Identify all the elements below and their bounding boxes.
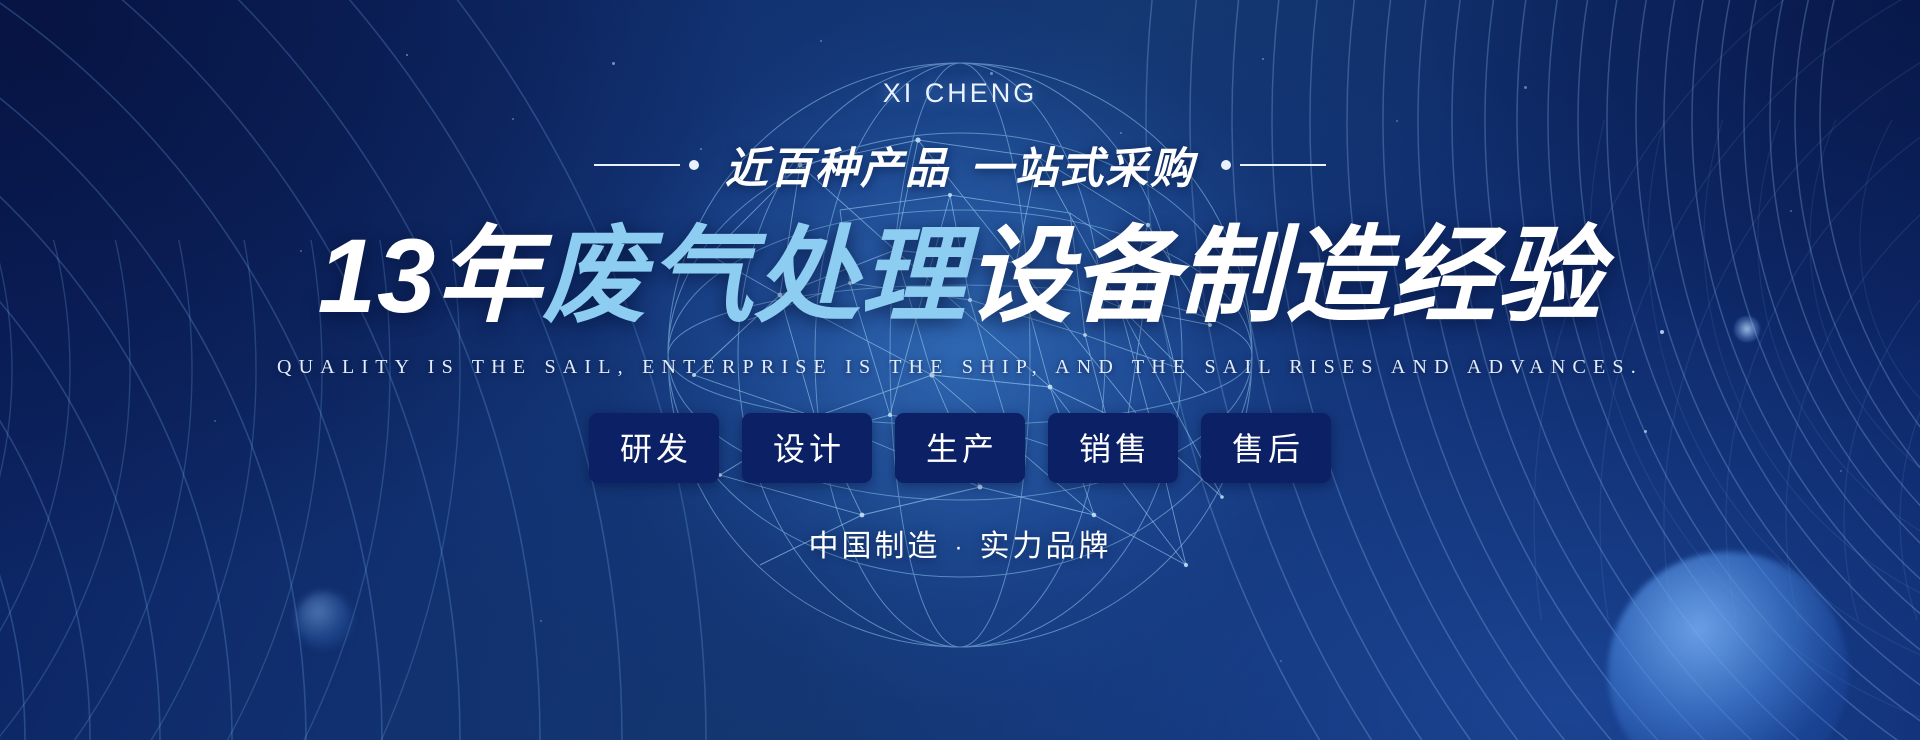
pill-rnd[interactable]: 研发 (589, 413, 719, 483)
banner-content: XI CHENG 近百种产品一站式采购 13年废气处理设备制造经验 QUALIT… (0, 0, 1920, 740)
pill-after-sales[interactable]: 售后 (1201, 413, 1331, 483)
service-pill-row: 研发 设计 生产 销售 售后 (589, 413, 1331, 483)
footnote-left-text: 中国制造 (809, 530, 941, 563)
divider-left (594, 160, 699, 170)
divider-right-dot (1221, 160, 1231, 170)
subline-text: 近百种产品一站式采购 (725, 134, 1195, 196)
brand-name-english: XI CHENG (883, 78, 1038, 109)
divider-left-bar (594, 164, 680, 166)
divider-right (1221, 160, 1326, 170)
subline-row: 近百种产品一站式采购 (594, 134, 1326, 196)
tagline-english: QUALITY IS THE SAIL, ENTERPRISE IS THE S… (277, 356, 1643, 379)
pill-design[interactable]: 设计 (742, 413, 872, 483)
promo-banner: XI CHENG 近百种产品一站式采购 13年废气处理设备制造经验 QUALIT… (0, 0, 1920, 740)
footnote-row: 中国制造·实力品牌 (809, 521, 1112, 565)
headline-segment-highlight: 废气处理 (542, 218, 966, 335)
divider-left-dot (689, 160, 699, 170)
footnote-right-text: 实力品牌 (980, 530, 1112, 563)
headline-segment-tail: 设备制造经验 (966, 218, 1602, 335)
subline-part-1: 近百种产品 (725, 145, 950, 193)
pill-production[interactable]: 生产 (895, 413, 1025, 483)
headline-segment-years: 13年 (318, 218, 543, 335)
footnote-separator: · (941, 534, 980, 562)
pill-sales[interactable]: 销售 (1048, 413, 1178, 483)
page-title: 13年废气处理设备制造经验 (318, 218, 1603, 336)
divider-right-bar (1240, 164, 1326, 166)
subline-part-2: 一站式采购 (970, 145, 1195, 193)
